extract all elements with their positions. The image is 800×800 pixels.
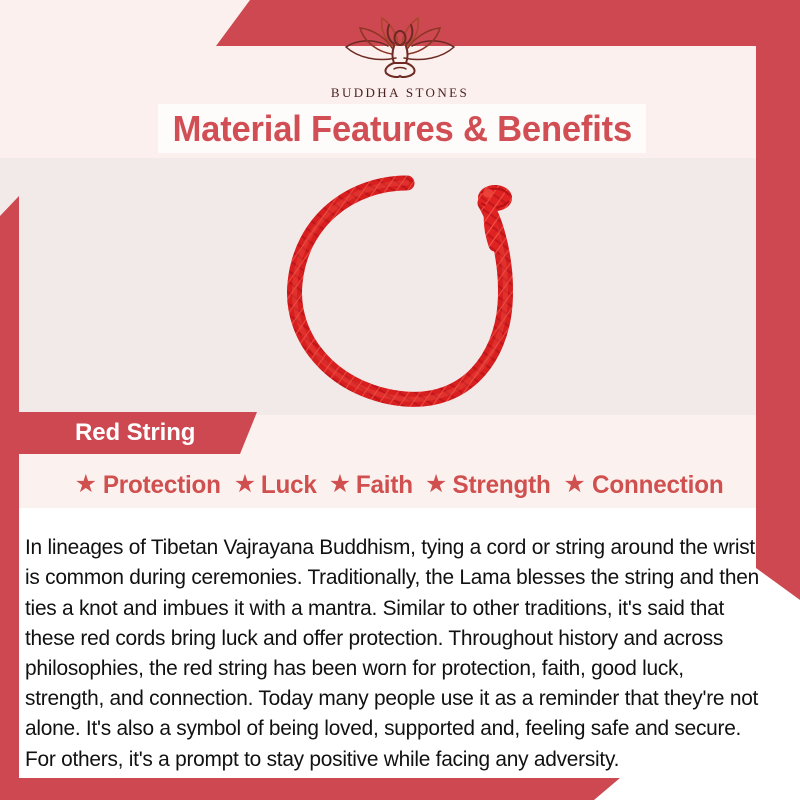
bottom-red-bar: [0, 778, 620, 800]
star-icon: ★: [563, 472, 585, 497]
benefit-label: Protection: [103, 471, 221, 500]
product-name-label: Red String: [75, 419, 195, 447]
benefit-item-protection: ★ Protection: [75, 471, 223, 500]
benefits-list: ★ Protection ★ Luck ★ Faith ★ Strength ★…: [19, 464, 781, 506]
benefit-label: Strength: [453, 471, 551, 500]
title-banner: Material Features & Benefits: [158, 104, 646, 153]
infographic-poster: BUDDHA STONES Material Features & Benefi…: [0, 0, 800, 800]
brand-logo: BUDDHA STONES: [0, 14, 800, 101]
benefit-item-luck: ★ Luck: [234, 471, 318, 500]
benefit-item-faith: ★ Faith: [329, 471, 414, 500]
description-paragraph: In lineages of Tibetan Vajrayana Buddhis…: [25, 533, 766, 775]
lotus-meditation-logo-icon: [334, 14, 466, 82]
benefit-label: Luck: [261, 471, 317, 500]
benefit-item-strength: ★ Strength: [425, 471, 553, 500]
benefit-item-connection: ★ Connection: [563, 471, 725, 500]
brand-name: BUDDHA STONES: [331, 85, 469, 101]
product-name-ribbon: Red String: [17, 412, 257, 454]
left-red-bar: [0, 196, 19, 778]
star-icon: ★: [425, 472, 447, 497]
star-icon: ★: [329, 472, 351, 497]
star-icon: ★: [75, 472, 97, 497]
benefit-label: Connection: [592, 471, 723, 500]
page-title: Material Features & Benefits: [172, 108, 631, 150]
benefit-label: Faith: [356, 471, 413, 500]
product-image-red-string-bracelet: [255, 165, 565, 435]
star-icon: ★: [234, 472, 256, 497]
